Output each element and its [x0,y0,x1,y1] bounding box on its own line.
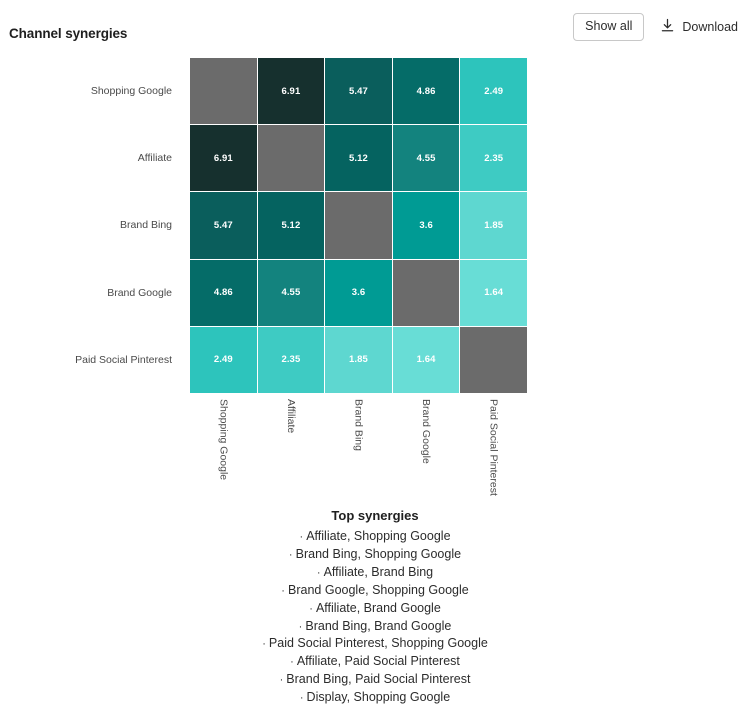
top-synergy-item: · Affiliate, Brand Google [0,600,750,618]
heatmap-cell-diagonal [258,125,325,191]
heatmap-cell[interactable]: 5.47 [190,192,257,258]
heatmap-cell[interactable]: 6.91 [258,58,325,124]
heatmap-cell[interactable]: 3.6 [325,260,392,326]
top-synergy-item: · Brand Google, Shopping Google [0,582,750,600]
heatmap-x-label-wrap: Affiliate [258,395,325,480]
heatmap-cell[interactable]: 5.12 [325,125,392,191]
top-synergy-item: · Display, Shopping Google [0,689,750,707]
heatmap-x-label-wrap: Shopping Google [190,395,257,480]
heatmap-x-label: Paid Social Pinterest [488,399,500,496]
heatmap-cell[interactable]: 3.6 [393,192,460,258]
bullet-icon: · [262,638,269,650]
heatmap-x-label-wrap: Paid Social Pinterest [460,395,527,480]
top-synergy-label: Affiliate, Shopping Google [306,529,450,543]
heatmap-cell[interactable]: 1.64 [460,260,527,326]
heatmap-x-axis-labels: Shopping GoogleAffiliateBrand BingBrand … [190,395,527,480]
heatmap-cell[interactable]: 1.85 [460,192,527,258]
top-synergies-title: Top synergies [0,508,750,523]
bullet-icon: · [309,603,316,615]
page-title: Channel synergies [9,26,127,41]
heatmap-cell[interactable]: 2.49 [460,58,527,124]
heatmap-cell-diagonal [460,327,527,393]
top-synergy-label: Brand Bing, Brand Google [305,619,451,633]
heatmap-cell[interactable]: 4.86 [190,260,257,326]
heatmap-cell[interactable]: 6.91 [190,125,257,191]
bullet-icon: · [290,656,297,668]
heatmap-cell[interactable]: 2.49 [190,327,257,393]
heatmap-cell[interactable]: 4.55 [258,260,325,326]
top-synergy-item: · Paid Social Pinterest, Shopping Google [0,635,750,653]
bullet-icon: · [317,567,324,579]
download-button[interactable]: Download [658,14,740,40]
heatmap-cell[interactable]: 1.85 [325,327,392,393]
bullet-icon: · [281,585,288,597]
heatmap-x-label: Shopping Google [217,399,229,480]
heatmap-cell-diagonal [190,58,257,124]
heatmap-y-label: Affiliate [0,125,181,191]
heatmap-cell[interactable]: 1.64 [393,327,460,393]
panel-header: Channel synergies Show all Download [0,0,750,58]
top-synergy-label: Brand Bing, Shopping Google [296,547,461,561]
bullet-icon: · [289,549,296,561]
heatmap-cell-diagonal [325,192,392,258]
show-all-button[interactable]: Show all [573,13,644,41]
heatmap-y-label: Paid Social Pinterest [0,327,181,393]
heatmap-cell[interactable]: 5.47 [325,58,392,124]
heatmap-y-axis-labels: Shopping GoogleAffiliateBrand BingBrand … [0,58,181,393]
bullet-icon: · [300,692,307,704]
top-synergy-item: · Brand Bing, Brand Google [0,618,750,636]
heatmap-y-label: Brand Google [0,260,181,326]
top-synergy-item: · Brand Bing, Shopping Google [0,546,750,564]
top-synergy-item: · Brand Bing, Paid Social Pinterest [0,671,750,689]
heatmap-x-label: Affiliate [285,399,297,433]
top-synergy-item: · Affiliate, Shopping Google [0,528,750,546]
download-label: Download [682,20,738,34]
top-synergy-item: · Affiliate, Paid Social Pinterest [0,653,750,671]
heatmap-cell[interactable]: 2.35 [258,327,325,393]
heatmap-x-label: Brand Bing [352,399,364,451]
header-actions: Show all Download [573,13,740,41]
heatmap-y-label: Shopping Google [0,58,181,124]
top-synergy-label: Affiliate, Paid Social Pinterest [297,654,460,668]
top-synergy-item: · Affiliate, Brand Bing [0,564,750,582]
heatmap-x-label-wrap: Brand Google [393,395,460,480]
heatmap-x-label-wrap: Brand Bing [325,395,392,480]
top-synergy-label: Brand Google, Shopping Google [288,583,469,597]
download-icon [660,18,675,36]
heatmap-cell[interactable]: 2.35 [460,125,527,191]
heatmap-x-label: Brand Google [420,399,432,464]
heatmap-cell[interactable]: 5.12 [258,192,325,258]
heatmap-grid: 6.915.474.862.496.915.124.552.355.475.12… [190,58,527,393]
heatmap-cell[interactable]: 4.55 [393,125,460,191]
top-synergies-list: · Affiliate, Shopping Google· Brand Bing… [0,528,750,707]
top-synergy-label: Affiliate, Brand Google [316,601,441,615]
top-synergies-section: Top synergies · Affiliate, Shopping Goog… [0,508,750,707]
heatmap-chart: Shopping GoogleAffiliateBrand BingBrand … [0,58,750,478]
heatmap-cell-diagonal [393,260,460,326]
top-synergy-label: Display, Shopping Google [307,690,451,704]
heatmap-y-label: Brand Bing [0,192,181,258]
top-synergy-label: Affiliate, Brand Bing [324,565,434,579]
top-synergy-label: Brand Bing, Paid Social Pinterest [286,672,470,686]
top-synergy-label: Paid Social Pinterest, Shopping Google [269,636,488,650]
heatmap-cell[interactable]: 4.86 [393,58,460,124]
